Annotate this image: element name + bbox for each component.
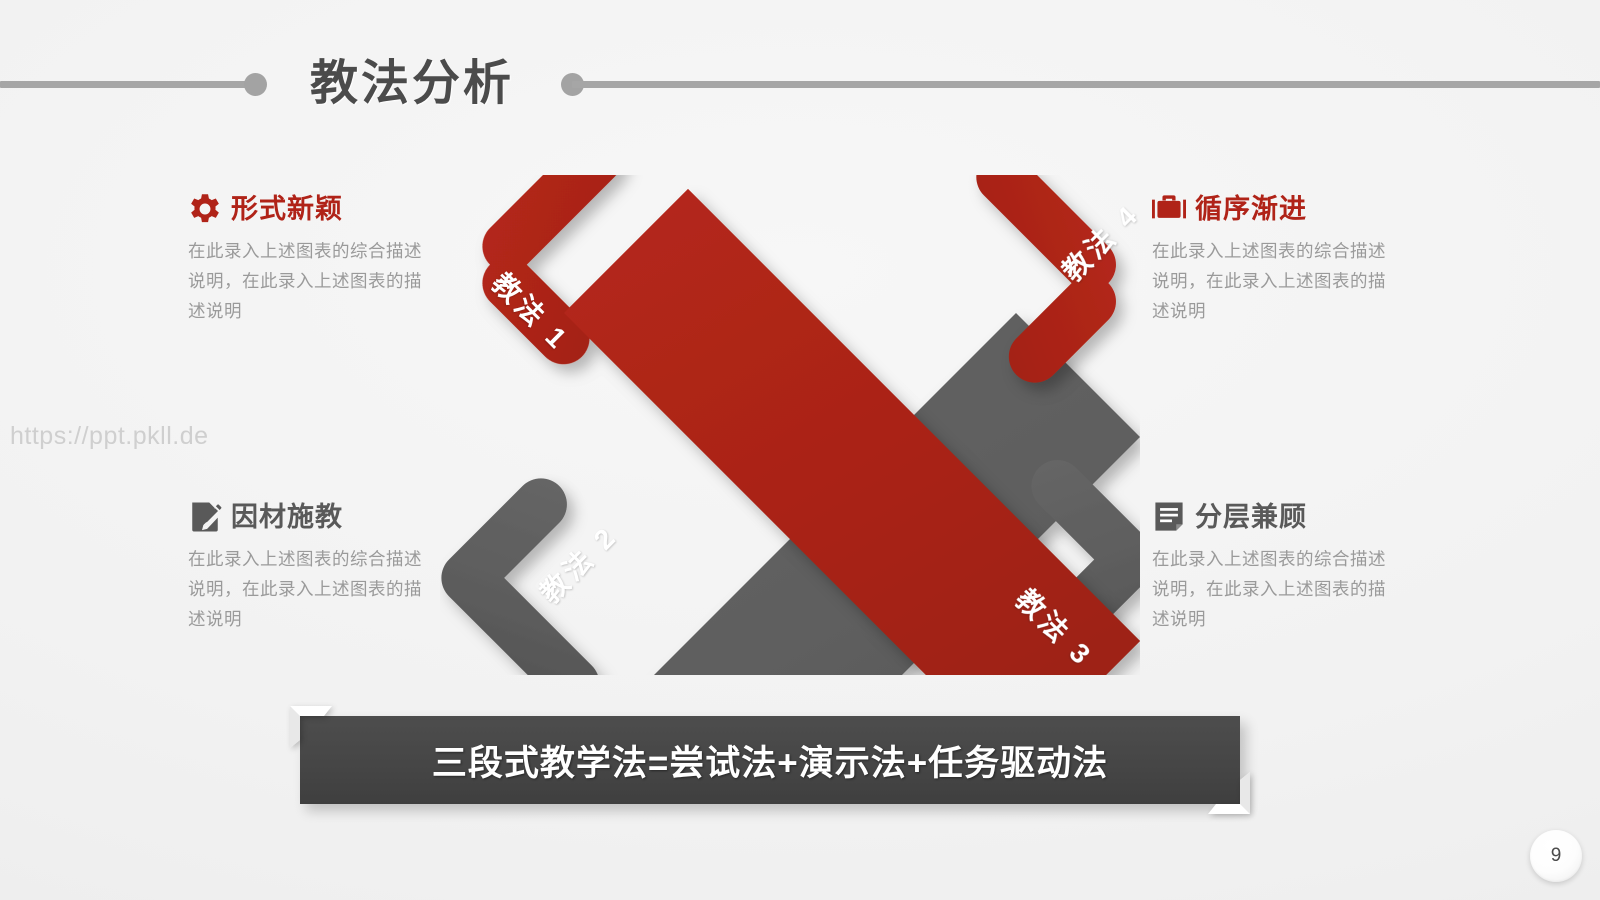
feature-header: 循序渐进 bbox=[1152, 192, 1402, 226]
title-dot-left-icon bbox=[244, 73, 267, 96]
feature-block-top-right[interactable]: 循序渐进 在此录入上述图表的综合描述说明，在此录入上述图表的描述说明 bbox=[1152, 192, 1402, 326]
feature-title: 循序渐进 bbox=[1195, 196, 1307, 223]
feature-description: 在此录入上述图表的综合描述说明，在此录入上述图表的描述说明 bbox=[1152, 236, 1402, 326]
crossed-arrows-diagram: 教法 1 教法 4 教法 2 教法 3 bbox=[440, 175, 1140, 675]
title-rule-left bbox=[0, 81, 258, 88]
corner-bracket-bottom-right-icon bbox=[1206, 770, 1252, 816]
slide-header: 教法分析 bbox=[0, 46, 1600, 122]
feature-block-bottom-right[interactable]: 分层兼顾 在此录入上述图表的综合描述说明，在此录入上述图表的描述说明 bbox=[1152, 500, 1402, 634]
page-number-badge: 9 bbox=[1530, 830, 1582, 882]
feature-title: 因材施教 bbox=[231, 504, 343, 531]
summary-banner-text: 三段式教学法=尝试法+演示法+任务驱动法 bbox=[300, 716, 1240, 804]
arm-2-head bbox=[440, 468, 684, 675]
page-title: 教法分析 bbox=[310, 46, 514, 122]
feature-description: 在此录入上述图表的综合描述说明，在此录入上述图表的描述说明 bbox=[188, 236, 438, 326]
slide-canvas: 教法分析 形式新颖 在此录入上述图表的综合描述说明，在此录入上述图表的描述说明 … bbox=[0, 0, 1600, 900]
feature-title: 分层兼顾 bbox=[1195, 504, 1307, 531]
gear-icon bbox=[188, 192, 222, 226]
diagram-svg bbox=[440, 175, 1140, 675]
feature-description: 在此录入上述图表的综合描述说明，在此录入上述图表的描述说明 bbox=[1152, 544, 1402, 634]
title-rule-right bbox=[572, 81, 1600, 88]
summary-banner[interactable]: 三段式教学法=尝试法+演示法+任务驱动法 bbox=[300, 716, 1240, 804]
feature-description: 在此录入上述图表的综合描述说明，在此录入上述图表的描述说明 bbox=[188, 544, 438, 634]
watermark-url: https://ppt.pkll.de bbox=[10, 422, 209, 451]
document-lines-icon bbox=[1152, 500, 1186, 534]
feature-header: 形式新颖 bbox=[188, 192, 438, 226]
feature-title: 形式新颖 bbox=[231, 196, 343, 223]
feature-block-top-left[interactable]: 形式新颖 在此录入上述图表的综合描述说明，在此录入上述图表的描述说明 bbox=[188, 192, 438, 326]
toolbox-icon bbox=[1152, 192, 1186, 226]
feature-block-bottom-left[interactable]: 因材施教 在此录入上述图表的综合描述说明，在此录入上述图表的描述说明 bbox=[188, 500, 438, 634]
feature-header: 分层兼顾 bbox=[1152, 500, 1402, 534]
arm-4-head bbox=[892, 175, 1140, 393]
feature-header: 因材施教 bbox=[188, 500, 438, 534]
edit-document-icon bbox=[188, 500, 222, 534]
